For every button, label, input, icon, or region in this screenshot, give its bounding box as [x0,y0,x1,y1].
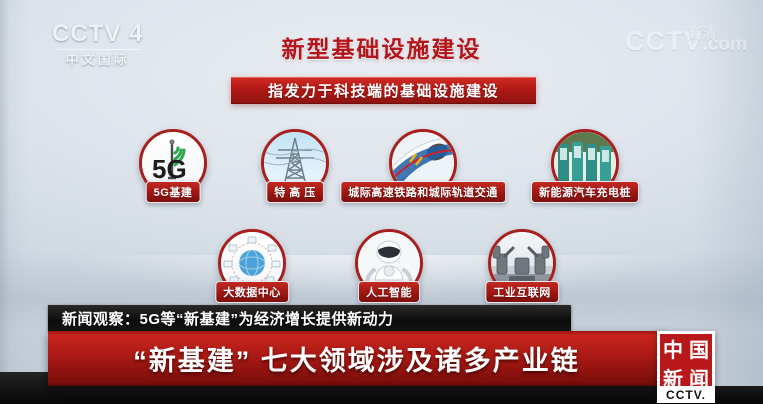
item-industrial-internet[interactable]: 工业互联网 [488,229,556,297]
item-uhv[interactable]: 特 高 压 [261,129,329,197]
item-intercity-rail[interactable]: 城际高速铁路和城际轨道交通 [389,129,457,197]
item-uhv-label: 特 高 压 [266,181,324,203]
subtitle-text: 指发力于科技端的基础设施建设 [268,80,499,101]
subtitle-banner: 指发力于科技端的基础设施建设 [231,77,536,104]
program-logo-char-1: 中 [660,334,686,363]
program-logo-char-2: 国 [686,334,712,363]
item-ai[interactable]: 人工智能 [355,229,423,297]
network-tag-text: CCTV. [666,388,706,402]
program-logo: 中 国 新 闻 [657,331,715,389]
bottom-black-bar [0,386,763,404]
page-title: 新型基础设施建设 [0,30,763,64]
main-headline-banner: “新基建” 七大领域涉及诸多产业链 [48,331,665,386]
news-ticker-text: 新闻观察：5G等“新基建”为经济增长提供新动力 [62,308,394,329]
svg-text:5G: 5G [152,154,187,184]
item-industrial-internet-label: 工业互联网 [485,281,559,303]
item-ev-charging-label: 新能源汽车充电桩 [531,181,639,203]
item-5g[interactable]: 5G 5G基建 [139,129,207,197]
item-ai-label: 人工智能 [358,281,420,303]
tv-broadcast-frame: CCTV 4 中文国际 高清 CCTV.com 新型基础设施建设 指发力于科技端… [0,0,763,404]
main-headline-text: “新基建” 七大领域涉及诸多产业链 [133,339,580,378]
item-data-center-label: 大数据中心 [215,281,289,303]
news-ticker: 新闻观察：5G等“新基建”为经济增长提供新动力 [48,305,571,331]
item-ev-charging[interactable]: 新能源汽车充电桩 [551,129,619,197]
item-5g-label: 5G基建 [146,181,201,203]
item-data-center[interactable]: 大数据中心 [218,229,286,297]
item-intercity-rail-label: 城际高速铁路和城际轨道交通 [340,181,506,203]
network-tag: CCTV. [657,386,715,403]
